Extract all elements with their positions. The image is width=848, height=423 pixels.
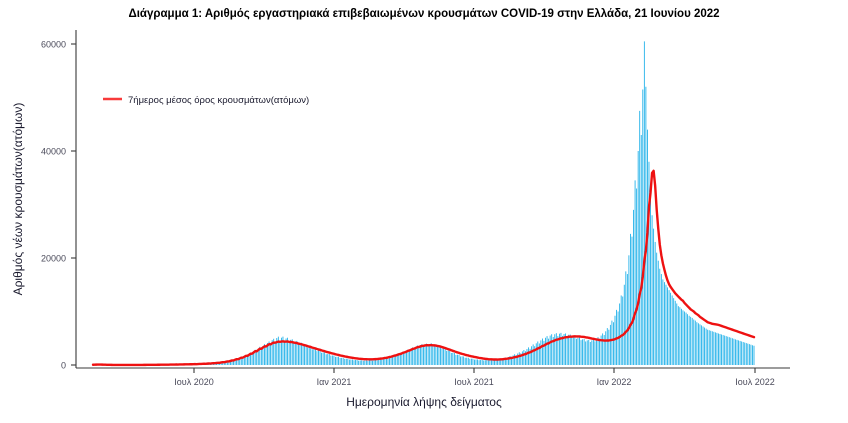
x-tick-label: Ιουλ 2022 bbox=[735, 377, 774, 387]
chart-legend: 7ήμερος μέσος όρος κρουσμάτων(ατόμων) bbox=[103, 95, 309, 106]
x-axis-label: Ημερομηνία λήψης δείγματος bbox=[346, 395, 502, 409]
x-axis-ticks: Ιουλ 2020Ιαν 2021Ιουλ 2021Ιαν 2022Ιουλ 2… bbox=[174, 368, 774, 387]
daily-cases-bars bbox=[93, 41, 754, 365]
x-tick-label: Ιουλ 2021 bbox=[454, 377, 493, 387]
covid-cases-chart: Διάγραμμα 1: Αριθμός εργαστηριακά επιβεβ… bbox=[0, 0, 848, 418]
chart-title: Διάγραμμα 1: Αριθμός εργαστηριακά επιβεβ… bbox=[128, 8, 719, 20]
y-tick-label: 0 bbox=[61, 361, 66, 371]
x-tick-label: Ιουλ 2020 bbox=[174, 377, 213, 387]
x-tick-label: Ιαν 2022 bbox=[597, 377, 632, 387]
x-tick-label: Ιαν 2021 bbox=[317, 377, 352, 387]
y-tick-label: 20000 bbox=[41, 254, 66, 264]
y-tick-label: 60000 bbox=[41, 40, 66, 50]
y-tick-label: 40000 bbox=[41, 147, 66, 157]
y-axis-label: Αριθμός νέων κρουσμάτων(ατόμων) bbox=[11, 103, 25, 296]
chart-canvas: Διάγραμμα 1: Αριθμός εργαστηριακά επιβεβ… bbox=[0, 0, 848, 418]
y-axis-ticks: 0200004000060000 bbox=[41, 40, 76, 371]
legend-label-seven-day-average: 7ήμερος μέσος όρος κρουσμάτων(ατόμων) bbox=[128, 95, 309, 106]
